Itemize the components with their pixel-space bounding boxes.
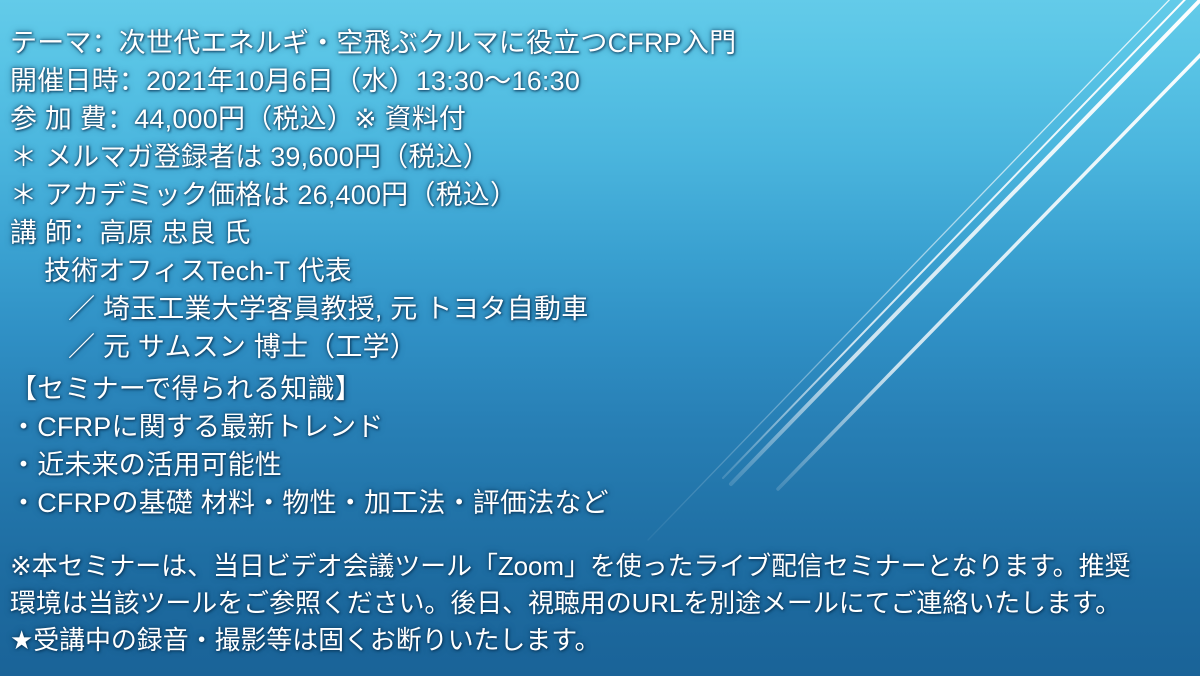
detail-line-affiliation1: 技術オフィスTech-T 代表: [10, 252, 736, 290]
notice-line-3: ★受講中の録音・撮影等は固くお断りいたします。: [10, 622, 1130, 659]
detail-line-affiliation2: ／ 埼玉工業大学客員教授, 元 トヨタ自動車: [10, 290, 736, 328]
notice-line-1: ※本セミナーは、当日ビデオ会議ツール「Zoom」を使ったライブ配信セミナーとなり…: [10, 548, 1130, 585]
knowledge-bullet-2: ・近未来の活用可能性: [10, 446, 609, 484]
detail-line-fee-mailmag: ＊ メルマガ登録者は 39,600円（税込）: [10, 138, 736, 176]
seminar-details-block: テーマ：次世代エネルギ・空飛ぶクルマに役立つCFRP入門 開催日時：2021年1…: [10, 24, 736, 366]
knowledge-heading: 【セミナーで得られる知識】: [10, 370, 609, 408]
knowledge-bullet-1: ・CFRPに関する最新トレンド: [10, 408, 609, 446]
detail-line-datetime: 開催日時：2021年10月6日（水）13:30〜16:30: [10, 62, 736, 100]
detail-line-affiliation3: ／ 元 サムスン 博士（工学）: [10, 328, 736, 366]
seminar-slide: テーマ：次世代エネルギ・空飛ぶクルマに役立つCFRP入門 開催日時：2021年1…: [0, 0, 1200, 676]
notice-line-2: 環境は当該ツールをご参照ください。後日、視聴用のURLを別途メールにてご連絡いた…: [10, 585, 1130, 622]
detail-line-lecturer: 講 師：高原 忠良 氏: [10, 214, 736, 252]
detail-line-theme: テーマ：次世代エネルギ・空飛ぶクルマに役立つCFRP入門: [10, 24, 736, 62]
knowledge-block: 【セミナーで得られる知識】 ・CFRPに関する最新トレンド ・近未来の活用可能性…: [10, 370, 609, 522]
detail-line-fee-academic: ＊ アカデミック価格は 26,400円（税込）: [10, 176, 736, 214]
detail-line-fee: 参 加 費：44,000円（税込）※ 資料付: [10, 100, 736, 138]
knowledge-bullet-3: ・CFRPの基礎 材料・物性・加工法・評価法など: [10, 484, 609, 522]
slide-text-layer: テーマ：次世代エネルギ・空飛ぶクルマに役立つCFRP入門 開催日時：2021年1…: [0, 0, 1200, 676]
notice-block: ※本セミナーは、当日ビデオ会議ツール「Zoom」を使ったライブ配信セミナーとなり…: [10, 548, 1130, 659]
